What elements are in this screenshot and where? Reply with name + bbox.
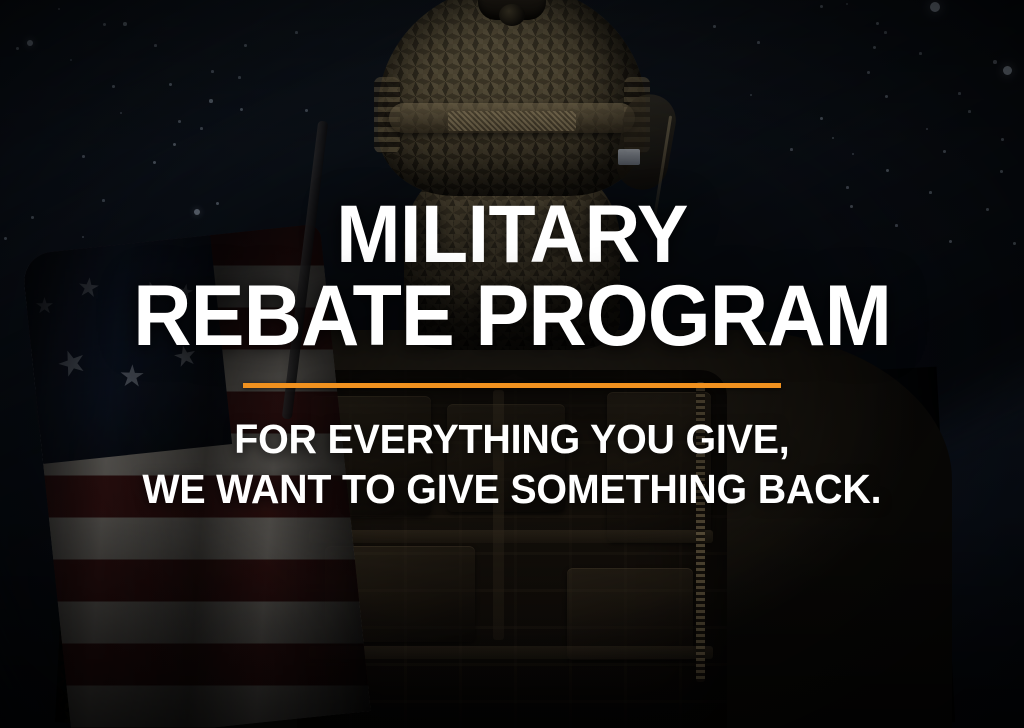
accent-divider: [243, 383, 781, 388]
headline-line-1: MILITARY: [133, 196, 891, 275]
page-title: MILITARY REBATE PROGRAM: [133, 196, 891, 357]
subtitle-line-2: WE WANT TO GIVE SOMETHING BACK.: [143, 464, 882, 514]
military-rebate-banner: ★★★★★★★ MILITARY REBATE PROGRAM FOR EVER…: [0, 0, 1024, 728]
headline-line-2: REBATE PROGRAM: [133, 275, 891, 358]
banner-content: MILITARY REBATE PROGRAM FOR EVERYTHING Y…: [0, 0, 1024, 728]
subtitle-line-1: FOR EVERYTHING YOU GIVE,: [143, 414, 882, 464]
subtitle: FOR EVERYTHING YOU GIVE, WE WANT TO GIVE…: [143, 414, 882, 514]
